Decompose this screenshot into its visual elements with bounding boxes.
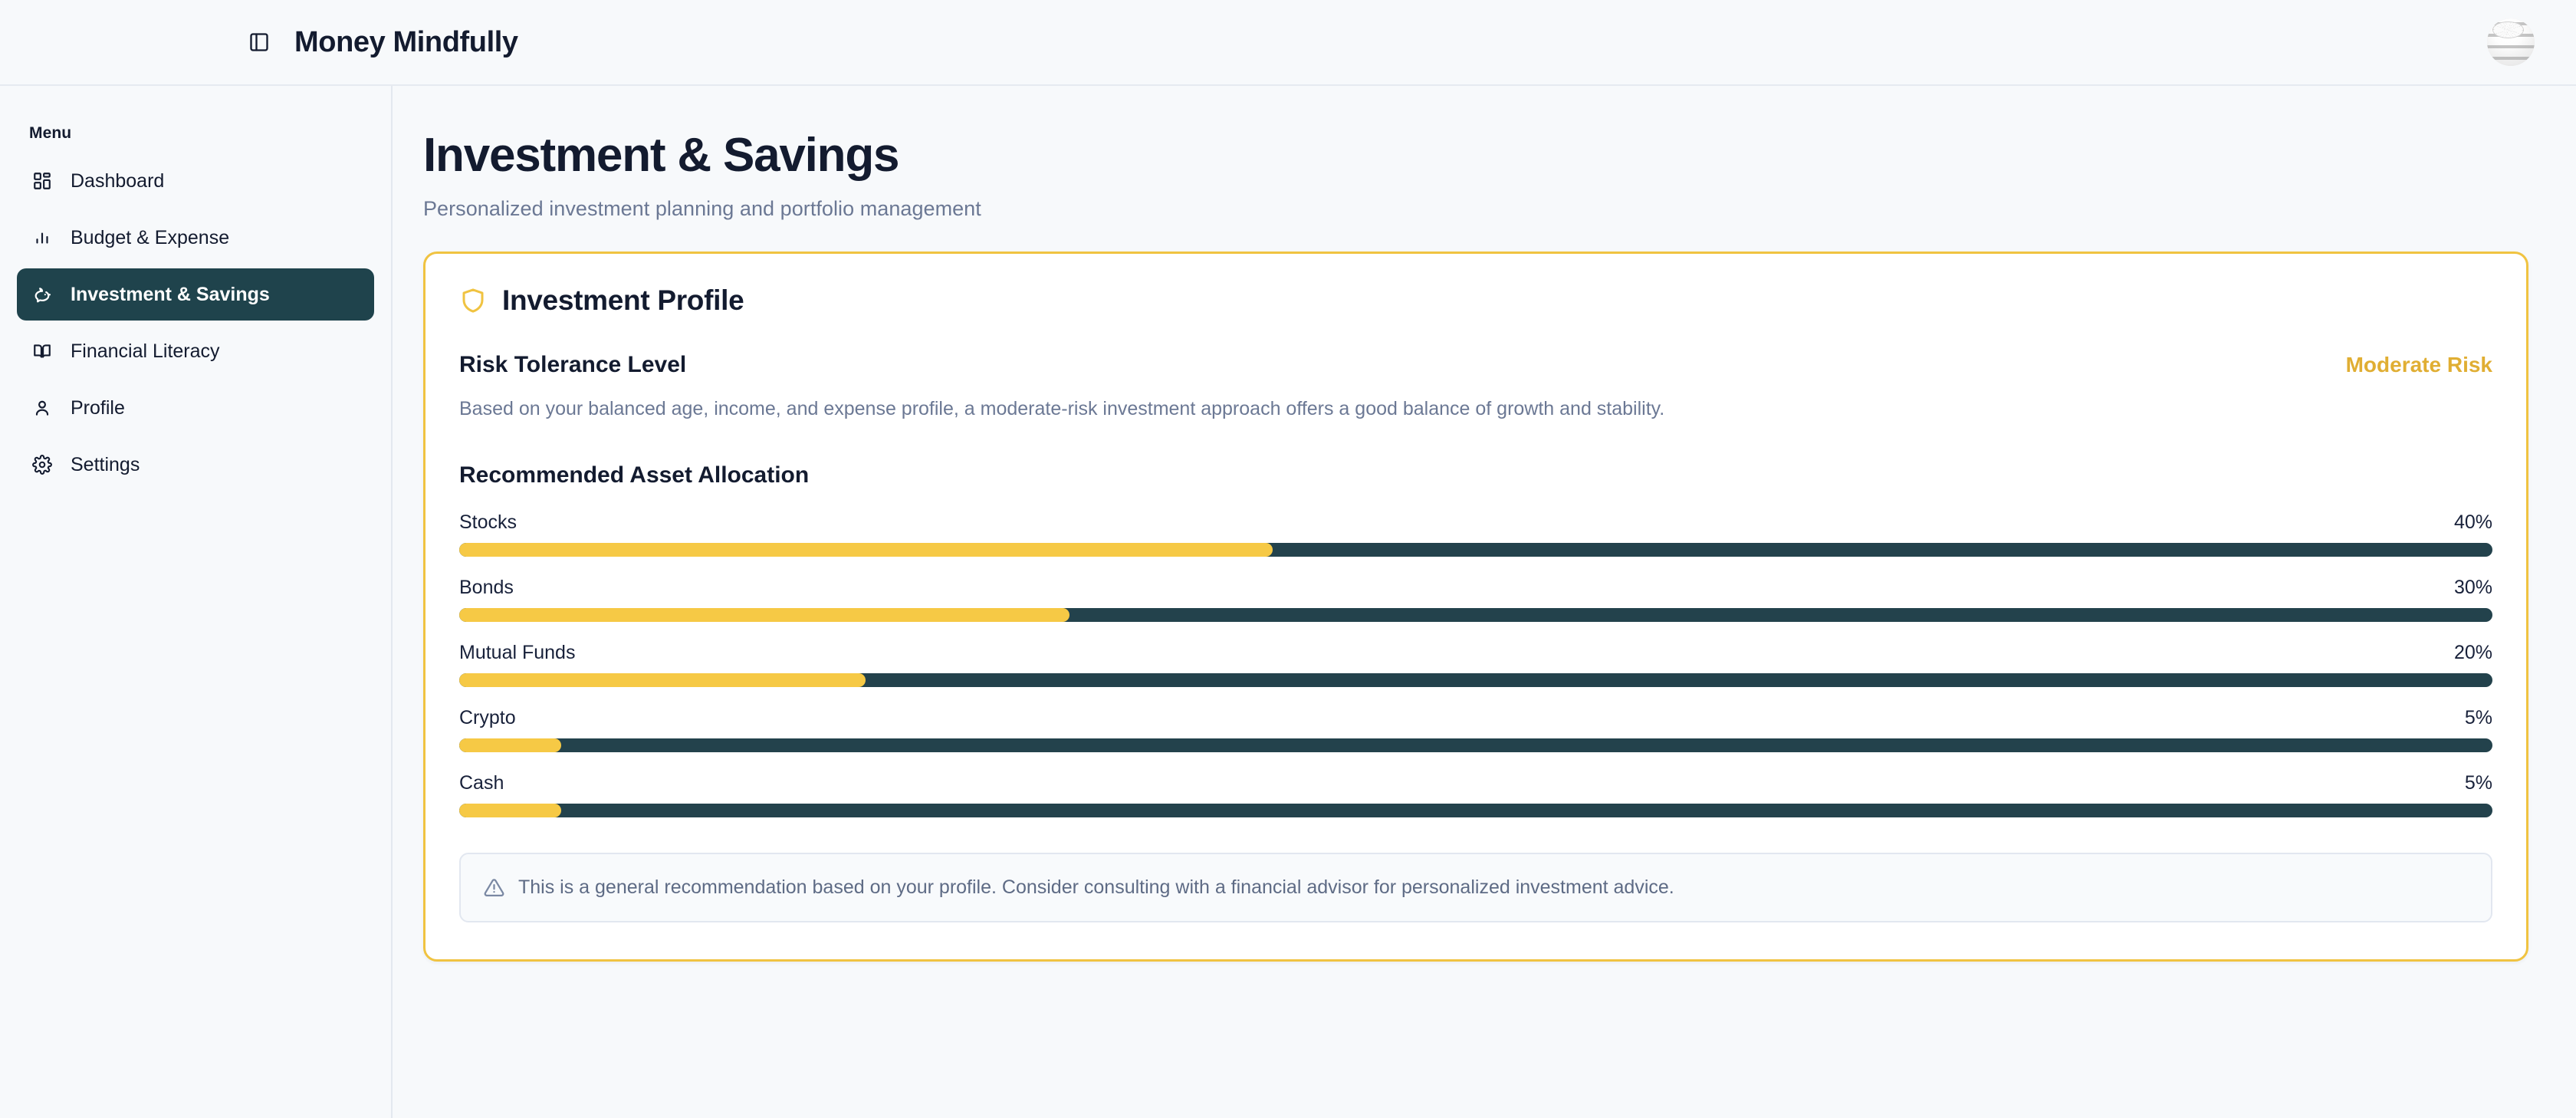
sidebar-item-financial-literacy[interactable]: Financial Literacy	[17, 325, 374, 377]
sidebar-item-label: Profile	[71, 397, 125, 419]
sidebar: Menu Dashboard	[0, 86, 393, 1118]
sidebar-item-settings[interactable]: Settings	[17, 439, 374, 491]
alert-triangle-icon	[484, 877, 504, 898]
avatar-photo-highlight	[2492, 21, 2524, 38]
bar-chart-icon	[31, 226, 54, 249]
page-subtitle: Personalized investment planning and por…	[423, 197, 2528, 221]
sidebar-item-label: Financial Literacy	[71, 340, 220, 363]
asset-percent: 30%	[2454, 577, 2492, 599]
allocation-row-header: Mutual Funds 20%	[459, 642, 2492, 664]
asset-percent: 20%	[2454, 642, 2492, 664]
app-header: Money Mindfully	[0, 0, 2576, 86]
asset-percent: 5%	[2465, 707, 2492, 729]
sidebar-item-profile[interactable]: Profile	[17, 382, 374, 434]
asset-name: Bonds	[459, 577, 514, 599]
app-root: Money Mindfully Menu	[0, 0, 2576, 1118]
allocation-bar-track	[459, 804, 2492, 817]
body-row: Menu Dashboard	[0, 86, 2576, 1118]
allocation-bar-track	[459, 543, 2492, 557]
asset-name: Cash	[459, 772, 504, 794]
sidebar-item-dashboard[interactable]: Dashboard	[17, 155, 374, 207]
investment-profile-card: Investment Profile Risk Tolerance Level …	[423, 252, 2528, 962]
sidebar-item-label: Budget & Expense	[71, 227, 229, 249]
disclaimer-note: This is a general recommendation based o…	[459, 853, 2492, 922]
allocation-row-header: Cash 5%	[459, 772, 2492, 794]
main-content: Investment & Savings Personalized invest…	[393, 86, 2576, 1118]
status-badge: Moderate Risk	[2346, 353, 2492, 377]
asset-percent: 40%	[2454, 511, 2492, 534]
grid-dashboard-icon	[31, 169, 54, 192]
list-item: Crypto 5%	[459, 707, 2492, 752]
sidebar-item-investment-savings[interactable]: Investment & Savings	[17, 268, 374, 321]
risk-tolerance-row: Risk Tolerance Level Moderate Risk	[459, 352, 2492, 378]
allocation-bar-fill	[459, 738, 561, 752]
allocation-bar-track	[459, 608, 2492, 622]
list-item: Bonds 30%	[459, 577, 2492, 622]
user-icon	[31, 396, 54, 419]
piggy-bank-icon	[31, 283, 54, 306]
shield-icon	[459, 286, 487, 315]
list-item: Cash 5%	[459, 772, 2492, 817]
page-title: Investment & Savings	[423, 130, 2528, 182]
sidebar-item-label: Settings	[71, 454, 140, 476]
asset-allocation-list: Stocks 40% Bonds 30%	[459, 511, 2492, 817]
sidebar-nav: Dashboard Budget & Expense	[17, 155, 374, 491]
allocation-section-title: Recommended Asset Allocation	[459, 462, 2492, 488]
risk-tolerance-title: Risk Tolerance Level	[459, 352, 686, 378]
allocation-bar-track	[459, 673, 2492, 687]
allocation-bar-fill	[459, 673, 866, 687]
allocation-row-header: Crypto 5%	[459, 707, 2492, 729]
asset-name: Mutual Funds	[459, 642, 575, 664]
allocation-row-header: Stocks 40%	[459, 511, 2492, 534]
header-right-group	[2487, 18, 2535, 66]
risk-tolerance-description: Based on your balanced age, income, and …	[459, 395, 2492, 423]
allocation-bar-fill	[459, 804, 561, 817]
disclaimer-text: This is a general recommendation based o…	[518, 874, 1674, 901]
asset-percent: 5%	[2465, 772, 2492, 794]
gear-icon	[31, 453, 54, 476]
card-header: Investment Profile	[459, 284, 2492, 317]
allocation-bar-fill	[459, 608, 1069, 622]
sidebar-item-budget-expense[interactable]: Budget & Expense	[17, 212, 374, 264]
sidebar-section-label: Menu	[17, 110, 374, 155]
asset-name: Crypto	[459, 707, 516, 729]
app-title: Money Mindfully	[294, 26, 518, 59]
user-avatar-image[interactable]	[2487, 18, 2535, 66]
asset-name: Stocks	[459, 511, 517, 534]
header-left-group: Money Mindfully	[0, 26, 518, 59]
book-open-icon	[31, 340, 54, 363]
allocation-row-header: Bonds 30%	[459, 577, 2492, 599]
sidebar-item-label: Investment & Savings	[71, 284, 270, 306]
list-item: Stocks 40%	[459, 511, 2492, 557]
sidebar-item-label: Dashboard	[71, 170, 164, 192]
allocation-bar-track	[459, 738, 2492, 752]
allocation-bar-fill	[459, 543, 1273, 557]
sidebar-panel-icon[interactable]	[244, 27, 274, 58]
card-title: Investment Profile	[502, 284, 744, 317]
list-item: Mutual Funds 20%	[459, 642, 2492, 687]
